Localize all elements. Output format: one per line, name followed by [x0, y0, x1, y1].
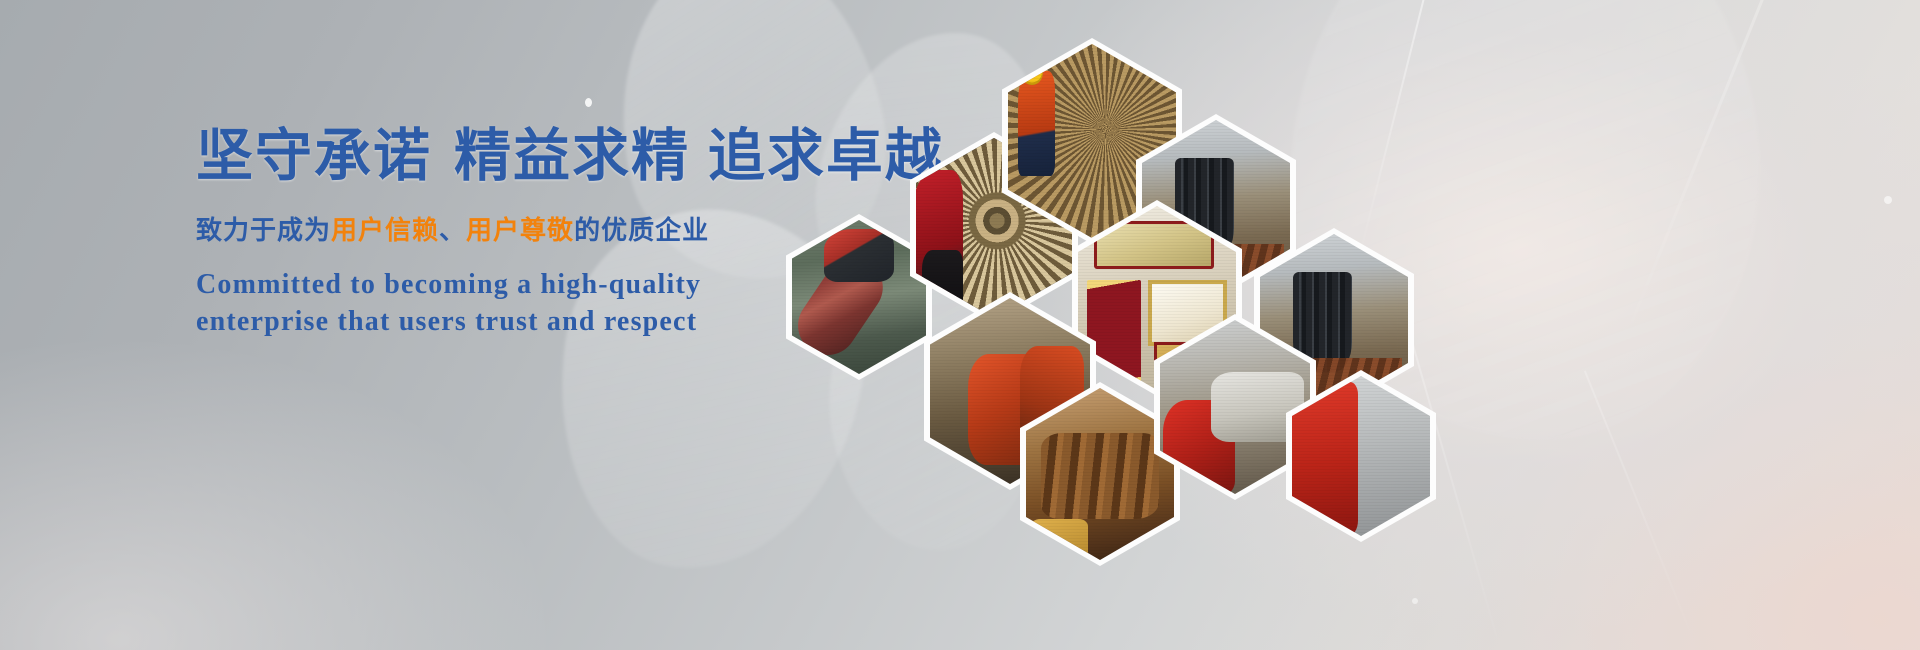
subline-separator: 、: [439, 215, 466, 245]
subline-lead: 致力于成为: [196, 215, 331, 245]
sparkle-dot-1: [585, 98, 592, 107]
subline-highlight-1: 用户信赖: [331, 215, 439, 245]
sparkle-dot-3: [1412, 598, 1418, 604]
hexagon-photo-cluster: [770, 50, 1430, 520]
light-streak-4: [1584, 371, 1698, 650]
sparkle-dot-2: [1884, 196, 1892, 204]
headline-part-2: 精益求精: [454, 124, 690, 188]
hero-banner: 坚守承诺精益求精 追求卓越 致力于成为用户信赖、用户尊敬的优质企业 Commit…: [0, 0, 1920, 650]
subline-tail: 的优质企业: [574, 215, 709, 245]
headline-part-1: 坚守承诺: [196, 124, 432, 188]
light-streak-2: [1621, 0, 1781, 345]
subline-highlight-2: 用户尊敬: [466, 215, 574, 245]
